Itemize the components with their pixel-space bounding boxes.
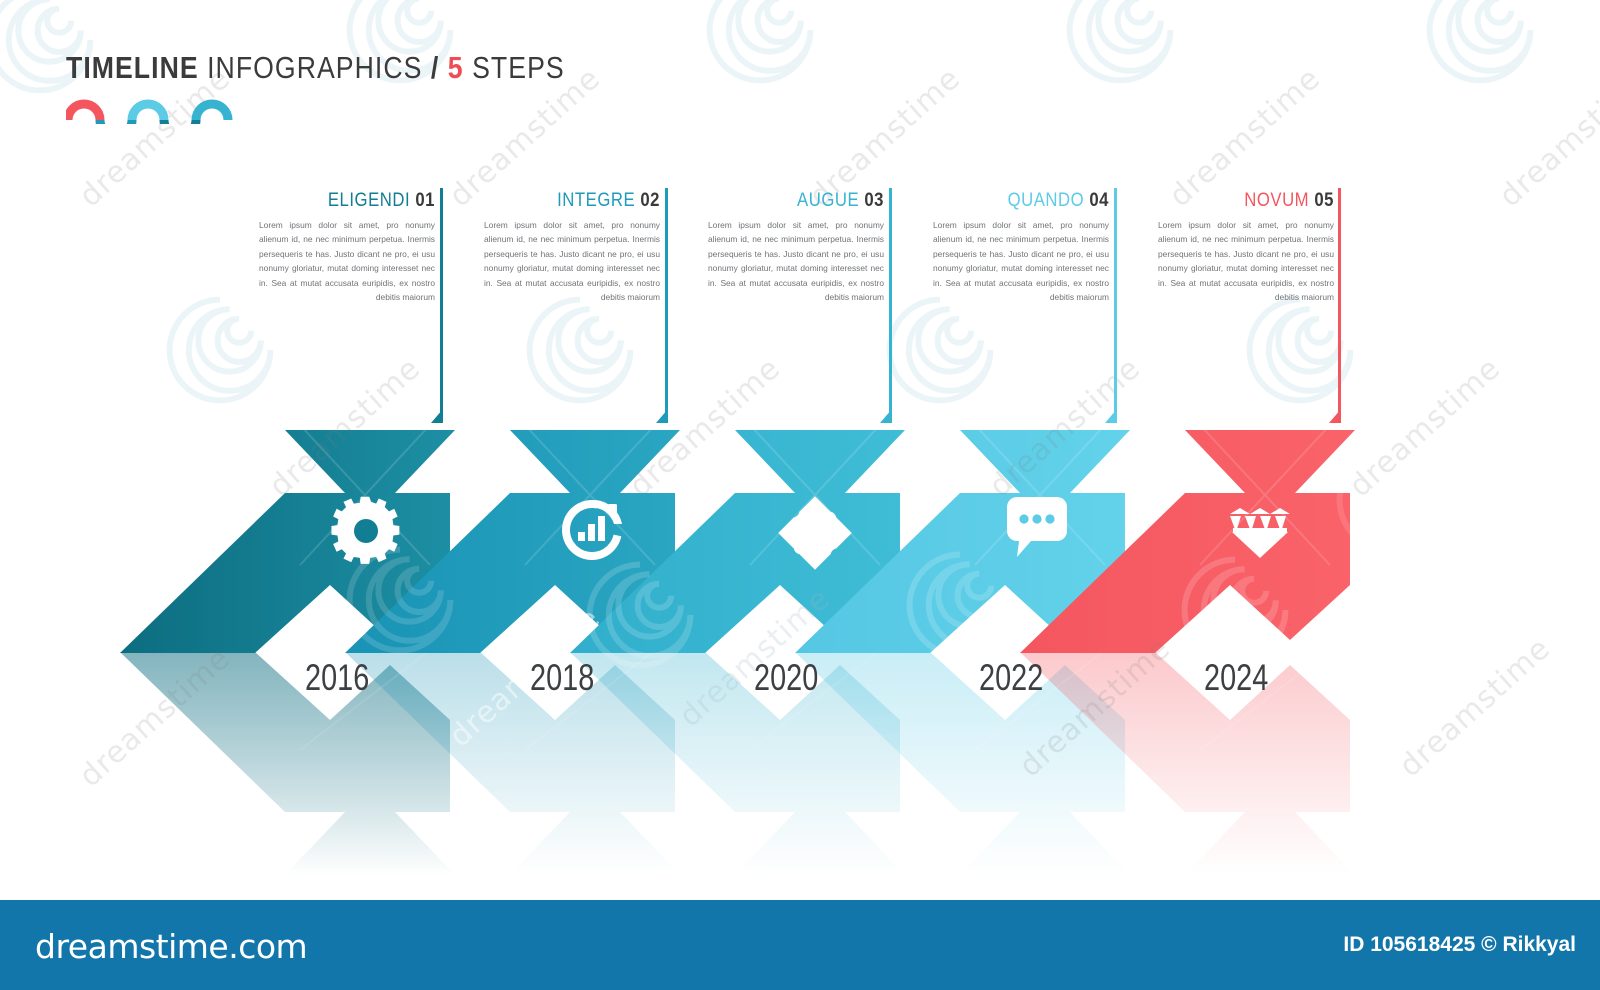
step-body-5: Lorem ipsum dolor sit amet, pro nonumy a…: [1158, 218, 1334, 305]
spiral-watermark: [1420, 0, 1540, 90]
step-body-4: Lorem ipsum dolor sit amet, pro nonumy a…: [933, 218, 1109, 305]
year-label-5: 2024: [1204, 657, 1268, 699]
spiral-watermark: [1240, 290, 1360, 410]
connector-line-4: [1114, 188, 1117, 422]
year-label-3: 2020: [754, 657, 818, 699]
step-body-2: Lorem ipsum dolor sit amet, pro nonumy a…: [484, 218, 660, 305]
step-heading-4: QUANDO 04: [954, 190, 1109, 212]
step-heading-2: INTEGRE 02: [505, 190, 660, 212]
title-tail: STEPS: [472, 50, 565, 85]
title-rest: INFOGRAPHICS: [207, 50, 422, 85]
step-heading-3: AUGUE 03: [729, 190, 884, 212]
step-heading-1: ELIGENDI 01: [280, 190, 435, 212]
title-separator: /: [431, 50, 439, 85]
step-text-1: ELIGENDI 01 Lorem ipsum dolor sit amet, …: [259, 190, 435, 305]
connector-arrowhead-3: [880, 409, 892, 423]
step-number-3: 03: [864, 190, 884, 211]
step-label-1: ELIGENDI: [328, 190, 410, 211]
connector-line-3: [889, 188, 892, 422]
footer-bar: dreamstime.com ID 105618425 © Rikkyal: [0, 900, 1600, 990]
step-text-2: INTEGRE 02 Lorem ipsum dolor sit amet, p…: [484, 190, 660, 305]
timeline-arrow-bands: [0, 425, 1600, 660]
year-label-4: 2022: [979, 657, 1043, 699]
step-text-4: QUANDO 04 Lorem ipsum dolor sit amet, pr…: [933, 190, 1109, 305]
page-title: TIMELINE INFOGRAPHICS / 5 STEPS: [66, 50, 565, 86]
spiral-watermark: [1060, 0, 1180, 90]
step-number-2: 02: [640, 190, 660, 211]
connector-stem-1: [440, 188, 443, 422]
connector-line-2: [665, 188, 668, 422]
step-body-1: Lorem ipsum dolor sit amet, pro nonumy a…: [259, 218, 435, 305]
wave-arcs-decoration-icon: [66, 90, 286, 124]
connector-arrowhead-1: [431, 409, 443, 423]
step-label-4: QUANDO: [1008, 190, 1085, 211]
step-label-3: AUGUE: [797, 190, 859, 211]
image-id-text: ID 105618425 © Rikkyal: [1343, 933, 1576, 957]
year-label-1: 2016: [305, 657, 369, 699]
step-label-5: NOVUM: [1244, 190, 1309, 211]
watermark-text: dreamstime: [1493, 61, 1600, 214]
step-number-4: 04: [1089, 190, 1109, 211]
step-body-3: Lorem ipsum dolor sit amet, pro nonumy a…: [708, 218, 884, 305]
step-heading-5: NOVUM 05: [1179, 190, 1334, 212]
spiral-watermark: [700, 0, 820, 90]
step-number-1: 01: [415, 190, 435, 211]
title-strong: TIMELINE: [66, 50, 199, 85]
footer-logo-text: dreamstime.com: [35, 927, 307, 966]
dreamstime-logo[interactable]: dreamstime.com: [35, 927, 307, 966]
connector-arrowhead-2: [656, 409, 668, 423]
connector-line-1: [440, 188, 443, 422]
connector-arrowhead-5: [1329, 409, 1341, 423]
header: TIMELINE INFOGRAPHICS / 5 STEPS: [66, 50, 646, 124]
connector-stem-5: [1338, 188, 1341, 422]
spiral-watermark: [880, 290, 1000, 410]
step-text-3: AUGUE 03 Lorem ipsum dolor sit amet, pro…: [708, 190, 884, 305]
step-number-5: 05: [1314, 190, 1334, 211]
step-text-5: NOVUM 05 Lorem ipsum dolor sit amet, pro…: [1158, 190, 1334, 305]
connector-arrowhead-4: [1105, 409, 1117, 423]
spiral-watermark: [520, 290, 640, 410]
year-label-2: 2018: [530, 657, 594, 699]
title-step-count: 5: [448, 50, 464, 85]
connector-stem-3: [889, 188, 892, 422]
connector-stem-2: [665, 188, 668, 422]
connector-line-5: [1338, 188, 1341, 422]
spiral-watermark: [160, 290, 280, 410]
connector-stem-4: [1114, 188, 1117, 422]
step-label-2: INTEGRE: [557, 190, 635, 211]
